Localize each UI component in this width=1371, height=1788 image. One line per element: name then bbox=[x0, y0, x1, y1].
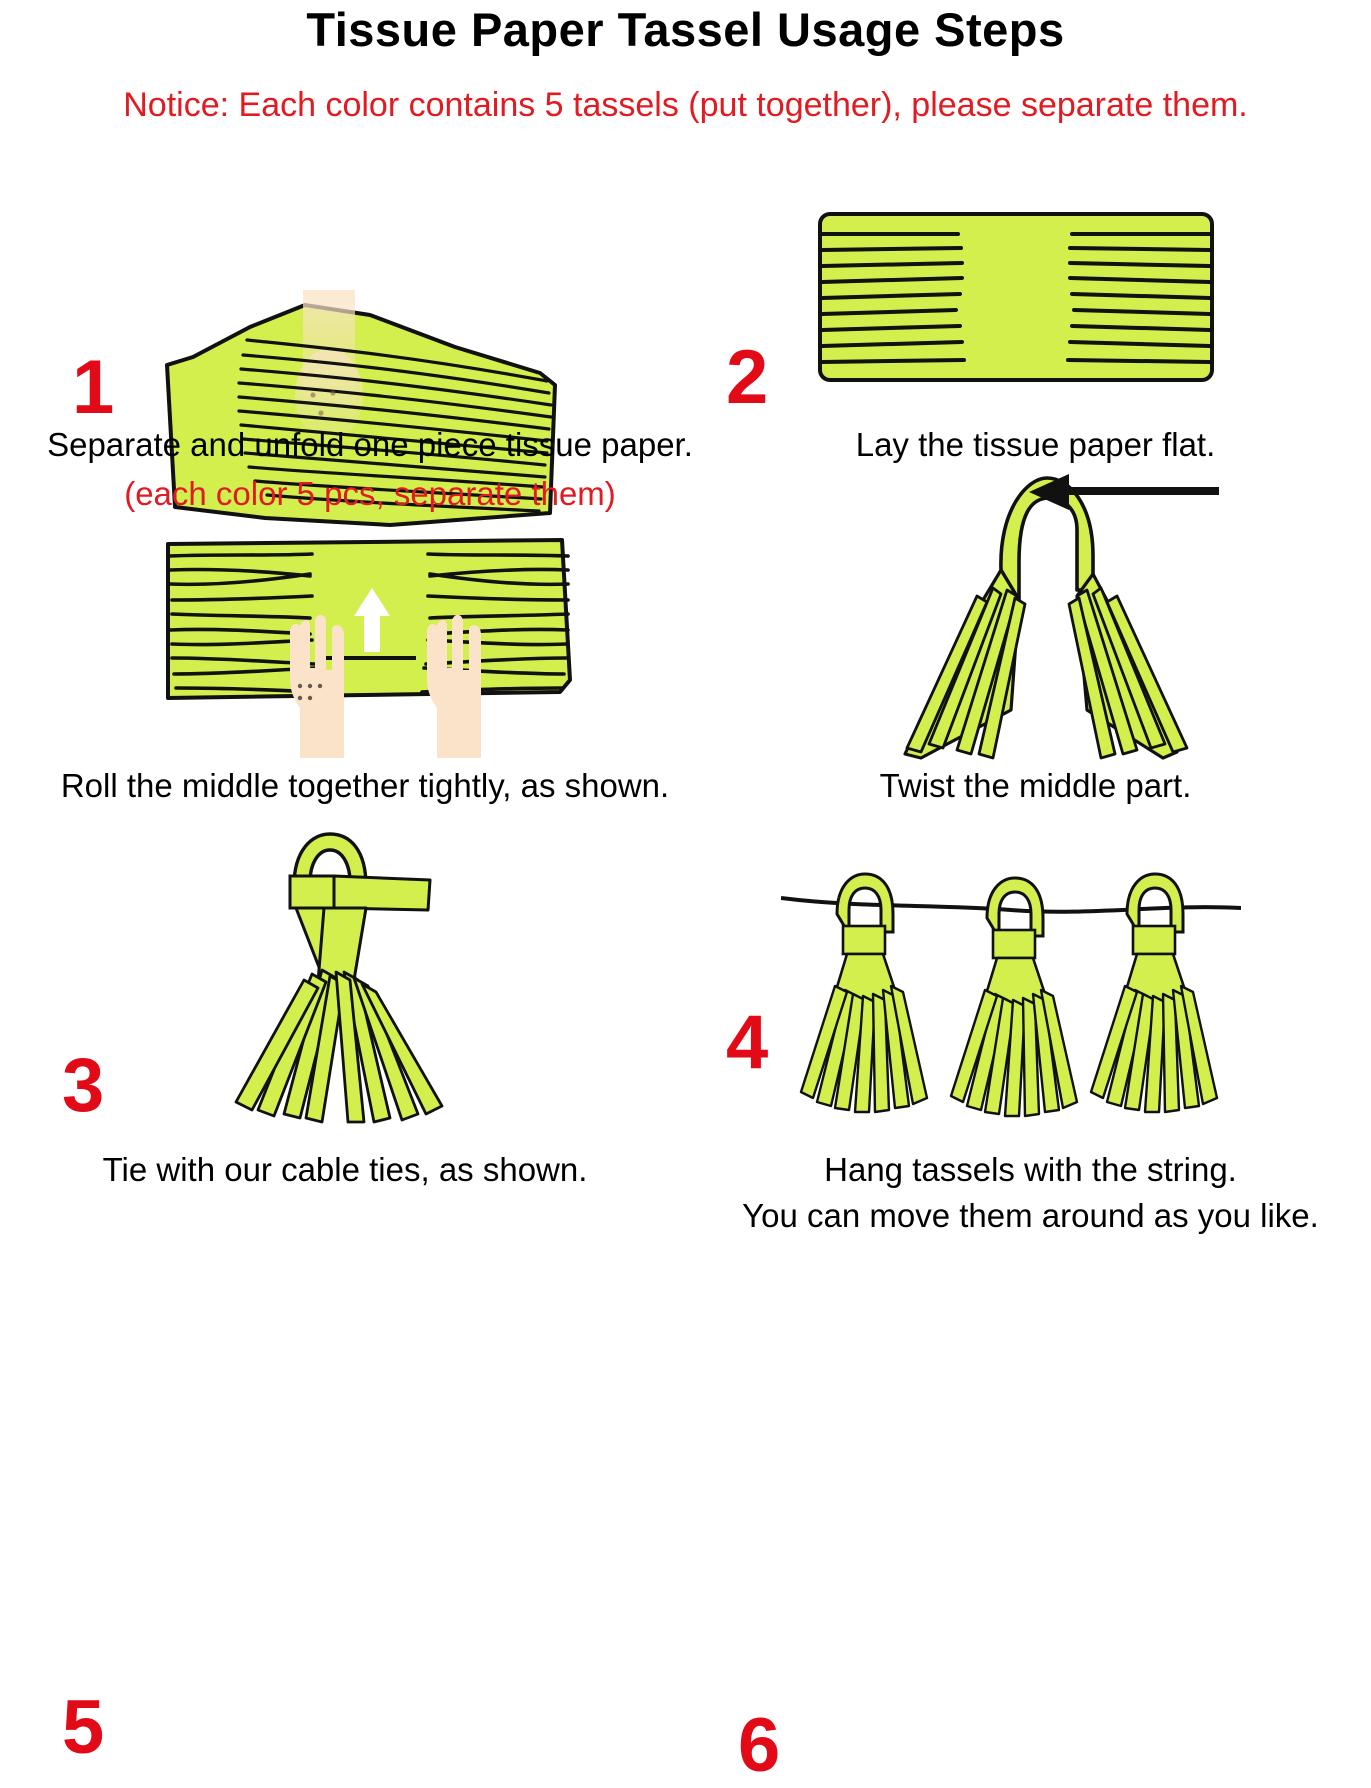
step-number-1: 1 bbox=[72, 350, 114, 426]
step-6: 6 bbox=[686, 830, 1371, 1140]
step-4-illustration bbox=[881, 470, 1281, 765]
step-6-illustration bbox=[781, 870, 1241, 1145]
step-number-5: 5 bbox=[62, 1690, 104, 1766]
page-title: Tissue Paper Tassel Usage Steps bbox=[0, 2, 1371, 57]
two-hands-rolling-middle-svg bbox=[160, 530, 580, 760]
tassel-1 bbox=[801, 874, 927, 1112]
three-tassels-on-string-svg bbox=[781, 870, 1241, 1140]
step-2-illustration bbox=[816, 208, 1216, 393]
step-1-caption: Separate and unfold one piece tissue pap… bbox=[0, 425, 740, 465]
step-6-caption-sub: You can move them around as you like. bbox=[690, 1196, 1371, 1236]
left-arrow-icon bbox=[1029, 474, 1219, 510]
step-5-illustration bbox=[218, 830, 518, 1145]
step-3-caption: Roll the middle together tightly, as sho… bbox=[0, 766, 730, 806]
step-1: 1 bbox=[0, 140, 686, 420]
step-3: 3 bbox=[0, 520, 686, 760]
step-2: 2 bbox=[686, 140, 1371, 420]
step-3-illustration bbox=[160, 530, 580, 765]
right-hand bbox=[427, 615, 481, 758]
step-4-caption: Twist the middle part. bbox=[700, 766, 1371, 806]
folded-twisted-tassel-svg bbox=[881, 470, 1281, 760]
flat-fringed-tissue-sheet-svg bbox=[816, 208, 1216, 388]
cable-tie bbox=[290, 876, 430, 910]
step-5: 5 bbox=[0, 830, 686, 1140]
step-number-2: 2 bbox=[726, 340, 768, 416]
step-5-caption: Tie with our cable ties, as shown. bbox=[0, 1150, 690, 1190]
notice-text: Notice: Each color contains 5 tassels (p… bbox=[0, 86, 1371, 125]
instruction-poster: Tissue Paper Tassel Usage Steps Notice: … bbox=[0, 0, 1371, 1254]
tassel-with-cable-tie-svg bbox=[218, 830, 518, 1140]
step-number-6: 6 bbox=[738, 1708, 780, 1784]
step-2-caption: Lay the tissue paper flat. bbox=[700, 425, 1371, 465]
step-4: 4 bbox=[686, 470, 1371, 760]
left-hand bbox=[290, 615, 344, 758]
step-6-caption: Hang tassels with the string. bbox=[690, 1150, 1371, 1190]
step-1-caption-sub: (each color 5 pcs, separate them) bbox=[0, 474, 740, 514]
